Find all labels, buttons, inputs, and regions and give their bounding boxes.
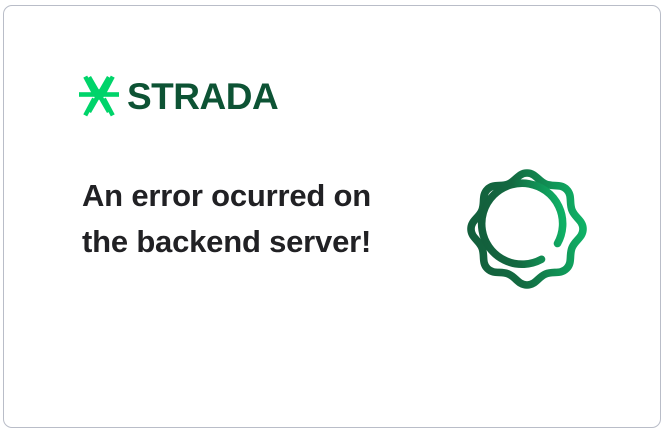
- gear-illustration: [445, 147, 609, 311]
- brand-wordmark: STRADA: [127, 78, 278, 115]
- strada-asterisk-mark-icon: [79, 75, 119, 117]
- error-page: STRADA An error ocurred on the backend s…: [0, 0, 666, 436]
- brand-logo: STRADA: [79, 75, 278, 117]
- error-message: An error ocurred on the backend server!: [82, 173, 372, 265]
- error-card: STRADA An error ocurred on the backend s…: [3, 5, 661, 428]
